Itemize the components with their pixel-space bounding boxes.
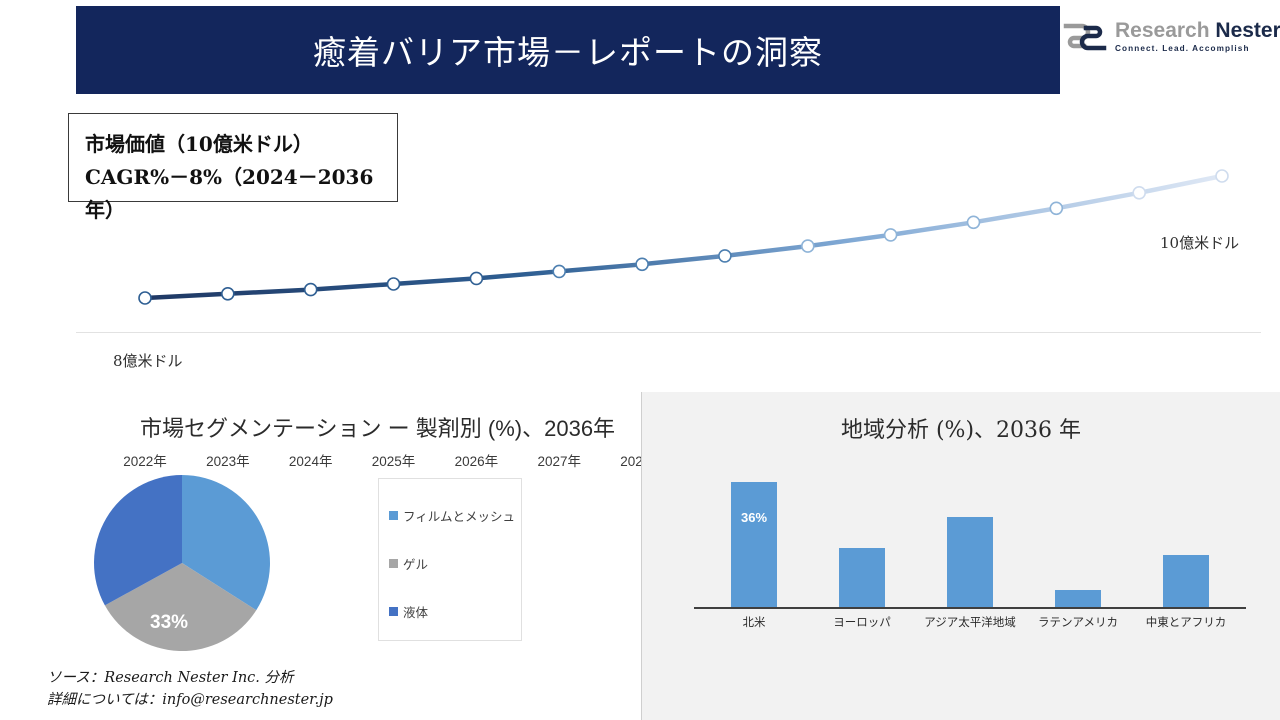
bar-chart-x-label: ヨーロッパ xyxy=(833,614,891,630)
line-chart-data-point xyxy=(802,240,814,252)
logo-wordmark: Research Nester Connect. Lead. Accomplis… xyxy=(1115,20,1280,53)
segmentation-title: 市場セグメンテーション ー 製剤別 (%)、2036年 xyxy=(140,411,615,443)
line-chart-data-point xyxy=(1133,187,1145,199)
line-chart-data-point xyxy=(470,272,482,284)
line-chart-data-point xyxy=(885,229,897,241)
header-banner: 癒着バリア市場－レポートの洞察 xyxy=(76,6,1060,94)
line-chart-data-point xyxy=(553,265,565,277)
bar xyxy=(1055,590,1101,607)
line-chart-data-point xyxy=(388,278,400,290)
bar-chart-x-label: アジア太平洋地域 xyxy=(924,614,1016,630)
line-chart-x-label: 2025年 xyxy=(372,450,416,470)
legend-item-label: フィルムとメッシュ xyxy=(403,506,515,525)
source-note: ソース：Research Nester Inc. 分析 詳細については：info… xyxy=(47,668,333,712)
source-line-analysis: ソース：Research Nester Inc. 分析 xyxy=(47,668,333,690)
bar-column: 36% xyxy=(731,482,777,607)
regional-bar-chart: 36% xyxy=(700,472,1240,607)
bar-column xyxy=(1163,555,1209,607)
legend-item[interactable]: フィルムとメッシュ xyxy=(389,491,521,539)
bar xyxy=(947,517,993,607)
line-chart-data-point xyxy=(1216,170,1228,182)
bar-column xyxy=(1055,590,1101,607)
page-title: 癒着バリア市場－レポートの洞察 xyxy=(313,26,823,74)
bar-chart-x-label: ラテンアメリカ xyxy=(1038,614,1118,630)
logo-name-part1: Research xyxy=(1115,19,1210,42)
line-chart-data-point xyxy=(305,284,317,296)
source-line-contact: 詳細については：info@researchnester.jp xyxy=(47,690,333,712)
legend-item[interactable]: 液体 xyxy=(389,587,521,635)
bar-chart-x-label: 中東とアフリカ xyxy=(1146,614,1227,630)
logo-tagline: Connect. Lead. Accomplish xyxy=(1115,45,1280,53)
line-chart-data-point xyxy=(719,250,731,262)
regional-analysis-title: 地域分析 (%)、2036 年 xyxy=(642,412,1280,444)
line-chart-data-point xyxy=(222,288,234,300)
legend-item-label: ゲル xyxy=(403,554,428,573)
bar-chart-baseline xyxy=(694,607,1246,609)
line-chart-data-point xyxy=(1050,202,1062,214)
line-chart-x-label: 2022年 xyxy=(123,450,167,470)
bar-data-label: 36% xyxy=(731,510,777,525)
line-chart-x-label: 2023年 xyxy=(206,450,250,470)
line-chart-x-label: 2026年 xyxy=(455,450,499,470)
legend-item[interactable]: ゲル xyxy=(389,539,521,587)
legend-swatch-icon xyxy=(389,511,398,520)
bar-column xyxy=(947,517,993,607)
bar-chart-x-label: 北米 xyxy=(743,614,766,630)
market-value-line-chart: 8億米ドル 10億米ドル 2022年2023年2024年2025年2026年20… xyxy=(0,100,1280,380)
infographic-page: 癒着バリア市場－レポートの洞察 Research Nester Connect.… xyxy=(0,0,1280,720)
legend-swatch-icon xyxy=(389,559,398,568)
line-chart-data-point xyxy=(139,292,151,304)
pie-slice-data-label: 33% xyxy=(150,612,188,634)
line-chart-plot xyxy=(0,100,1280,380)
legend-item-label: 液体 xyxy=(403,602,428,621)
line-chart-x-label: 2027年 xyxy=(537,450,581,470)
brand-logo: Research Nester Connect. Lead. Accomplis… xyxy=(1063,10,1280,64)
bar: 36% xyxy=(731,482,777,607)
regional-analysis-panel: 地域分析 (%)、2036 年 36% 北米ヨーロッパアジア太平洋地域ラテンアメ… xyxy=(641,392,1280,720)
research-nester-logo-icon xyxy=(1063,20,1107,54)
line-chart-data-point xyxy=(636,258,648,270)
bar xyxy=(839,548,885,607)
bar-column xyxy=(839,548,885,607)
pie-chart-legend: フィルムとメッシュゲル液体 xyxy=(378,478,522,641)
bar xyxy=(1163,555,1209,607)
legend-swatch-icon xyxy=(389,607,398,616)
line-chart-data-point xyxy=(968,216,980,228)
logo-name-part2: Nester xyxy=(1215,19,1280,42)
line-chart-x-label: 2024年 xyxy=(289,450,333,470)
